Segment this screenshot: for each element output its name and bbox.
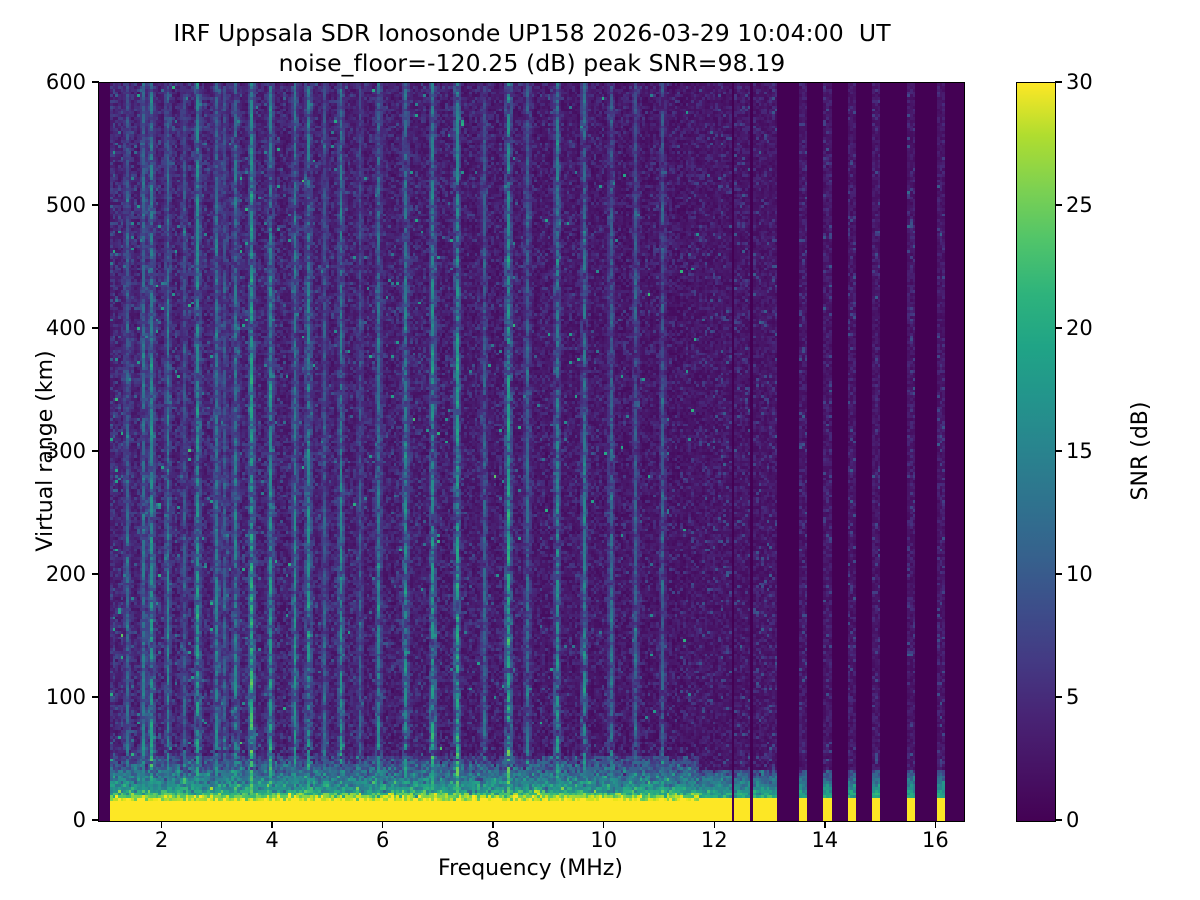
colorbar-tick-label: 10 [1066, 562, 1093, 586]
colorbar-tick-mark [1055, 450, 1062, 451]
x-tick-label: 4 [265, 828, 278, 852]
x-tick-label: 12 [701, 828, 728, 852]
x-tick-label: 10 [590, 828, 617, 852]
colorbar [1016, 82, 1056, 822]
title-line-2: noise_floor=-120.25 (dB) peak SNR=98.19 [0, 48, 1064, 78]
y-tick-mark [92, 204, 99, 205]
colorbar-tick-label: 25 [1066, 193, 1093, 217]
colorbar-gradient [1017, 83, 1055, 821]
y-tick-mark [92, 819, 99, 820]
y-tick-mark [92, 450, 99, 451]
colorbar-label: SNR (dB) [1128, 82, 1153, 820]
colorbar-tick-label: 20 [1066, 316, 1093, 340]
y-tick-mark [92, 81, 99, 82]
colorbar-tick-mark [1055, 573, 1062, 574]
y-tick-mark [92, 327, 99, 328]
x-tick-label: 14 [811, 828, 838, 852]
y-axis-label: Virtual range (km) [33, 82, 58, 820]
colorbar-tick-mark [1055, 204, 1062, 205]
figure-title: IRF Uppsala SDR Ionosonde UP158 2026-03-… [0, 18, 1064, 78]
colorbar-tick-label: 5 [1066, 685, 1079, 709]
colorbar-tick-mark [1055, 81, 1062, 82]
colorbar-tick-label: 0 [1066, 808, 1079, 832]
ionogram-plot-area [98, 82, 965, 822]
y-tick-mark [92, 696, 99, 697]
x-tick-label: 6 [376, 828, 389, 852]
title-line-1: IRF Uppsala SDR Ionosonde UP158 2026-03-… [0, 18, 1064, 48]
colorbar-tick-label: 30 [1066, 70, 1093, 94]
colorbar-tick-mark [1055, 327, 1062, 328]
colorbar-tick-mark [1055, 696, 1062, 697]
ionogram-heatmap [99, 83, 964, 821]
ionogram-figure: IRF Uppsala SDR Ionosonde UP158 2026-03-… [0, 0, 1200, 900]
y-tick-mark [92, 573, 99, 574]
x-axis-label: Frequency (MHz) [98, 856, 963, 881]
x-tick-label: 8 [487, 828, 500, 852]
colorbar-tick-mark [1055, 819, 1062, 820]
x-tick-label: 2 [155, 828, 168, 852]
x-tick-label: 16 [922, 828, 949, 852]
colorbar-tick-label: 15 [1066, 439, 1093, 463]
